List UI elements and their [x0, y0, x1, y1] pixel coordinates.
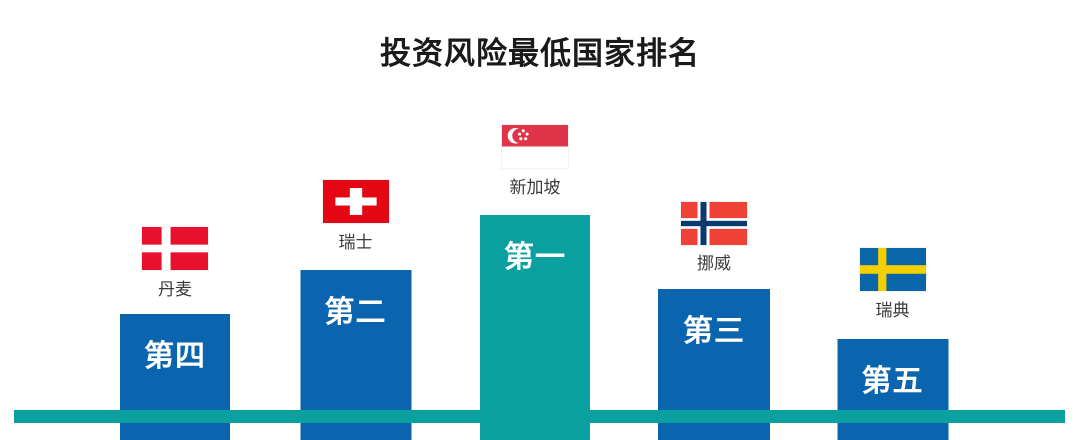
bar-group-singapore: 新加坡 第一	[480, 30, 590, 440]
ranking-chart: 投资风险最低国家排名 丹麦 第四 瑞士 第二	[0, 0, 1080, 440]
bar-singapore[interactable]: 第一	[480, 215, 590, 440]
country-label-norway: 挪威	[697, 254, 731, 274]
rank-label-switzerland: 第二	[300, 296, 411, 330]
country-label-switzerland: 瑞士	[339, 233, 373, 253]
sweden-flag-icon	[859, 247, 927, 292]
norway-flag-svg	[681, 202, 747, 245]
singapore-flag-icon	[501, 124, 569, 169]
country-label-sweden: 瑞典	[876, 301, 910, 321]
rank-label-denmark: 第四	[120, 340, 230, 374]
country-label-singapore: 新加坡	[510, 178, 561, 198]
bar-sweden[interactable]: 第五	[837, 339, 948, 440]
rank-label-norway: 第三	[658, 315, 770, 349]
bar-group-switzerland: 瑞士 第二	[300, 30, 411, 440]
bar-group-denmark: 丹麦 第四	[120, 30, 230, 440]
switzerland-flag-icon	[322, 179, 390, 224]
switzerland-flag-svg	[323, 180, 389, 223]
denmark-flag-icon	[141, 226, 209, 271]
bar-group-sweden: 瑞典 第五	[837, 30, 948, 440]
country-label-denmark: 丹麦	[158, 280, 192, 300]
rank-label-sweden: 第五	[837, 365, 948, 399]
chart-baseline	[14, 410, 1065, 423]
bar-group-norway: 挪威 第三	[658, 30, 770, 440]
singapore-flag-svg	[502, 125, 568, 168]
rank-label-singapore: 第一	[480, 241, 590, 275]
norway-flag-icon	[680, 201, 748, 246]
sweden-flag-svg	[860, 248, 926, 291]
denmark-flag-svg	[142, 227, 208, 270]
